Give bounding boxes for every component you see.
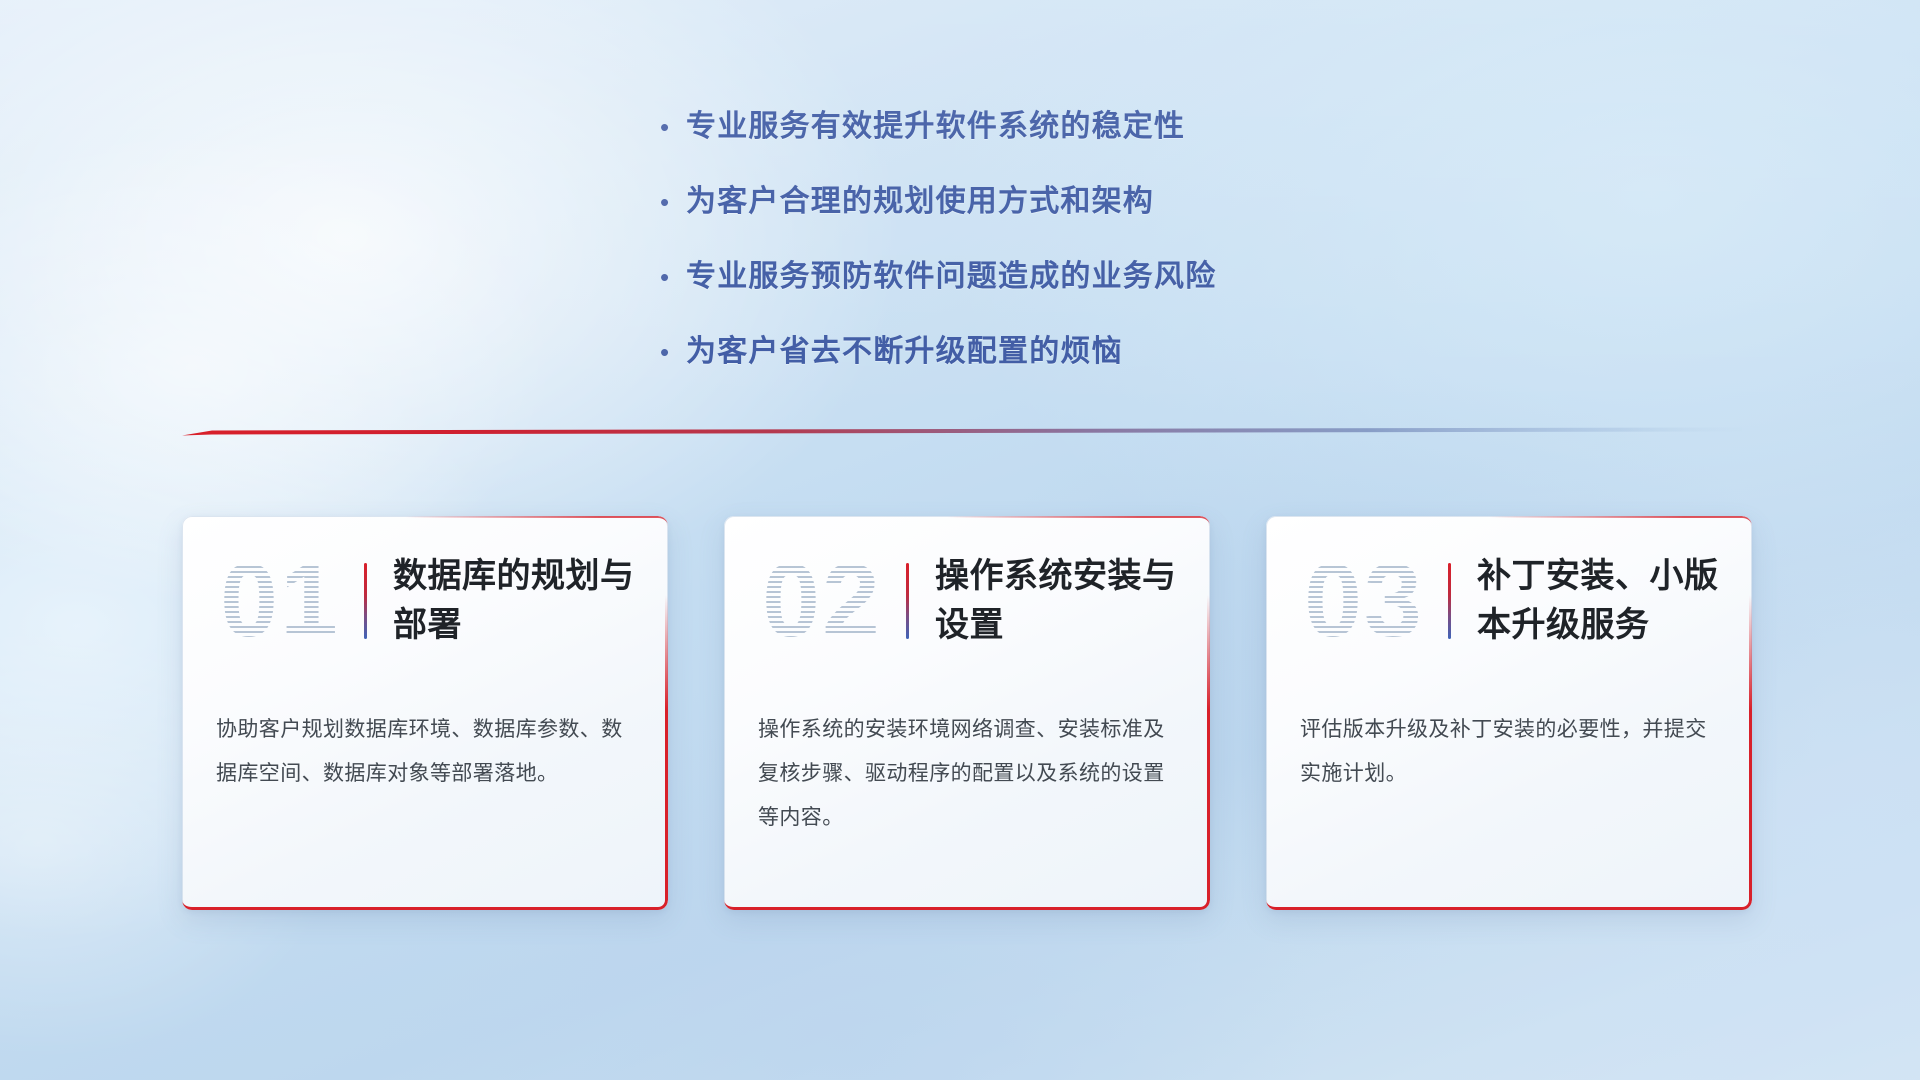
benefits-bullet-list: • 专业服务有效提升软件系统的稳定性 • 为客户合理的规划使用方式和架构 • 专…: [660, 105, 1420, 405]
bullet-text: 专业服务有效提升软件系统的稳定性: [686, 105, 1185, 149]
card-title: 操作系统安装与设置: [935, 552, 1187, 650]
card-header: 01 数据库的规划与部署: [182, 516, 668, 686]
bullet-dot-icon: •: [660, 330, 686, 374]
divider-shape-icon: [182, 424, 1742, 438]
bullet-text: 为客户省去不断升级配置的烦恼: [686, 330, 1123, 374]
service-cards-row: 01 数据库的规划与部署 协助客户规划数据库环境、数据库参数、数据库空间、数据库…: [182, 516, 1754, 910]
bullet-dot-icon: •: [660, 180, 686, 224]
card-description: 评估版本升级及补丁安装的必要性，并提交实施计划。: [1266, 686, 1752, 796]
card-title: 补丁安装、小版本升级服务: [1477, 552, 1729, 650]
list-item: • 为客户省去不断升级配置的烦恼: [660, 330, 1420, 374]
card-number-watermark: 01: [206, 541, 354, 661]
service-card-01[interactable]: 01 数据库的规划与部署 协助客户规划数据库环境、数据库参数、数据库空间、数据库…: [182, 516, 668, 910]
bullet-dot-icon: •: [660, 105, 686, 149]
card-description: 协助客户规划数据库环境、数据库参数、数据库空间、数据库对象等部署落地。: [182, 686, 668, 796]
bullet-dot-icon: •: [660, 255, 686, 299]
section-divider: [182, 424, 1742, 438]
service-card-02[interactable]: 02 操作系统安装与设置 操作系统的安装环境网络调查、安装标准及复核步骤、驱动程…: [724, 516, 1210, 910]
title-accent-bar-icon: [364, 563, 367, 639]
list-item: • 为客户合理的规划使用方式和架构: [660, 180, 1420, 224]
list-item: • 专业服务有效提升软件系统的稳定性: [660, 105, 1420, 149]
card-title: 数据库的规划与部署: [393, 552, 645, 650]
title-accent-bar-icon: [1448, 563, 1451, 639]
card-header: 02 操作系统安装与设置: [724, 516, 1210, 686]
card-description: 操作系统的安装环境网络调查、安装标准及复核步骤、驱动程序的配置以及系统的设置等内…: [724, 686, 1210, 840]
card-header: 03 补丁安装、小版本升级服务: [1266, 516, 1752, 686]
title-accent-bar-icon: [906, 563, 909, 639]
list-item: • 专业服务预防软件问题造成的业务风险: [660, 255, 1420, 299]
bullet-text: 为客户合理的规划使用方式和架构: [686, 180, 1154, 224]
service-card-03[interactable]: 03 补丁安装、小版本升级服务 评估版本升级及补丁安装的必要性，并提交实施计划。: [1266, 516, 1752, 910]
card-number-watermark: 02: [748, 541, 896, 661]
card-number-watermark: 03: [1290, 541, 1438, 661]
bullet-text: 专业服务预防软件问题造成的业务风险: [686, 255, 1216, 299]
slide-canvas: • 专业服务有效提升软件系统的稳定性 • 为客户合理的规划使用方式和架构 • 专…: [0, 0, 1920, 1080]
